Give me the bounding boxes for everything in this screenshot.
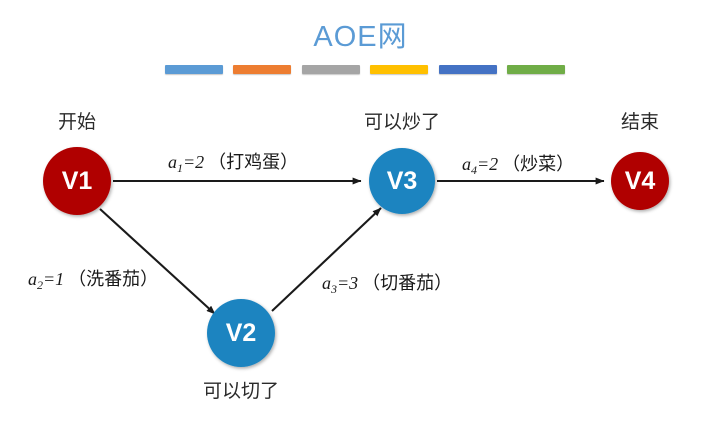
node-v2[interactable]: V2 可以切了	[203, 299, 279, 402]
edge-a3-label: a3=3（切番茄）	[322, 273, 452, 296]
edge-a3: a3=3（切番茄）	[272, 208, 452, 311]
node-v4-caption: 结束	[621, 111, 659, 133]
node-v2-label: V2	[226, 319, 257, 347]
node-v1-caption: 开始	[58, 111, 96, 133]
node-v4-label: V4	[625, 167, 656, 195]
slide-canvas: AOE网 a1=2（打鸡蛋） a2=1（洗番茄）	[0, 0, 721, 432]
edge-a2-line	[100, 209, 215, 314]
aoe-network-graph: a1=2（打鸡蛋） a2=1（洗番茄） a3=3（切番茄） a4=2（炒菜） V…	[0, 0, 721, 432]
edge-a3-line	[272, 208, 381, 311]
node-v1-label: V1	[62, 167, 93, 195]
node-v4[interactable]: V4 结束	[611, 111, 669, 210]
edge-a4: a4=2（炒菜）	[437, 154, 604, 181]
node-v2-caption: 可以切了	[203, 381, 279, 402]
edge-a1: a1=2（打鸡蛋）	[113, 152, 361, 181]
node-v3-label: V3	[387, 167, 418, 195]
edge-a1-label: a1=2（打鸡蛋）	[168, 152, 298, 175]
edge-a2-label: a2=1（洗番茄）	[28, 269, 158, 292]
edge-a4-label: a4=2（炒菜）	[462, 154, 574, 177]
node-v1[interactable]: V1 开始	[43, 111, 111, 215]
node-v3[interactable]: V3 可以炒了	[364, 112, 440, 214]
node-v3-caption: 可以炒了	[364, 112, 440, 133]
edge-a2: a2=1（洗番茄）	[28, 209, 215, 314]
